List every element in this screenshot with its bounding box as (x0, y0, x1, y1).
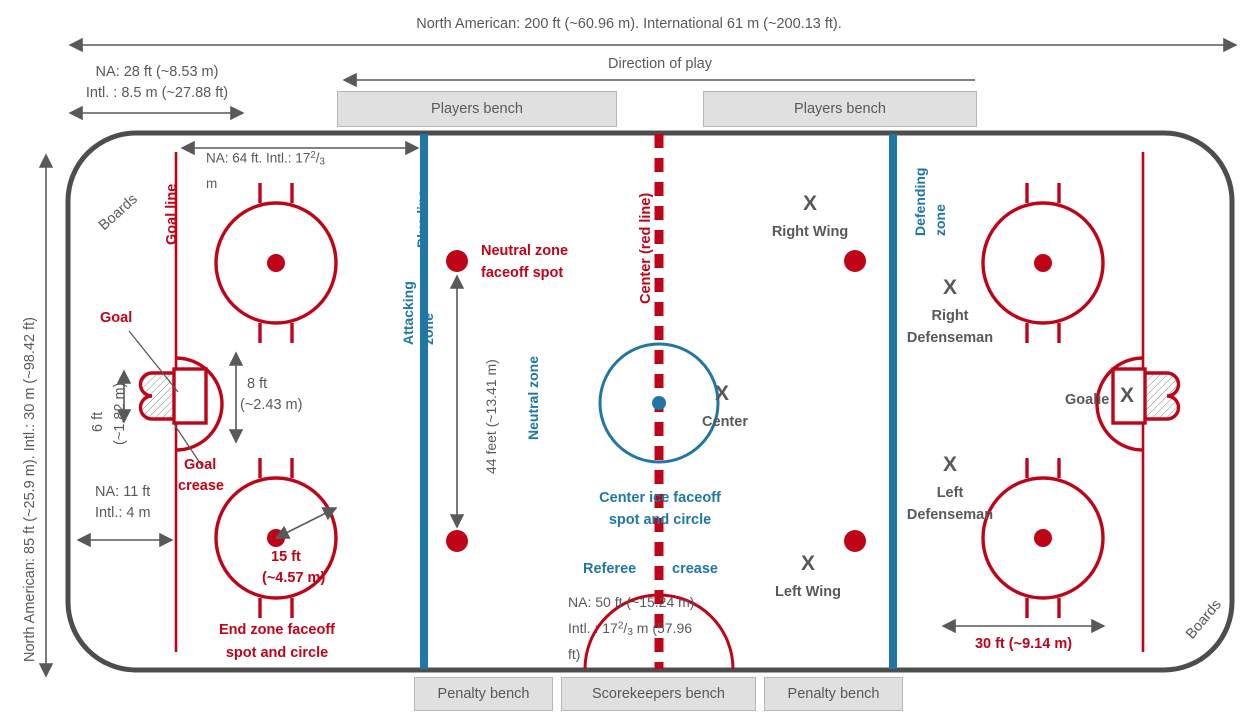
hash-spacing-label: 30 ft (~9.14 m) (943, 636, 1104, 653)
blue-line-separation-line1: NA: 50 ft (~15.24 m). (568, 594, 698, 611)
player-label-right-defenseman-line1: Right (888, 308, 1012, 325)
goal-label: Goal (100, 310, 132, 327)
corner-radius-label-line2: Intl. : 8.5 m (~27.88 ft) (32, 85, 282, 102)
overall-length-label: North American: 200 ft (~60.96 m). Inter… (329, 16, 929, 33)
goal-line-distance-label-line1: NA: 11 ft (95, 484, 150, 501)
blue-line-separation-line2: Intl. : 172/3 m (57.96 (568, 620, 692, 639)
referee-crease-label-left: Referee (583, 561, 636, 578)
penalty-bench-left[interactable]: Penalty bench (414, 677, 553, 711)
player-marker-right-defenseman: X (906, 276, 994, 301)
neutral-zone-label: Neutral zone (525, 356, 542, 440)
player-label-left-wing: Left Wing (748, 584, 868, 601)
overall-width-label: North American: 85 ft (~25.9 m). Intl.: … (22, 317, 39, 662)
attacking-zone-label-line1: Attacking (400, 281, 417, 345)
player-label-right-defenseman-line2: Defenseman (888, 330, 1012, 347)
blue-line-separation-line3: ft) (568, 646, 580, 663)
blue-line-separation-pre: Intl. : 17 (568, 620, 618, 636)
player-marker-center: X (692, 382, 752, 407)
blue-line-label: Blue line (414, 190, 431, 248)
goal-width-label-line1: 8 ft (247, 376, 267, 393)
neutral-faceoff-spot-top-right (844, 250, 866, 272)
player-marker-goalie: X (1120, 384, 1134, 409)
player-label-left-defenseman-line2: Defenseman (888, 507, 1012, 524)
blue-line-separation-numerator: 2 (618, 620, 624, 631)
corner-radius-label-line1: NA: 28 ft (~8.53 m) (32, 64, 282, 81)
end-zone-faceoff-label-line1: End zone faceoff (187, 622, 367, 639)
end-zone-faceoff-label-line2: spot and circle (187, 645, 367, 662)
attacking-zone-label-line2: zone (420, 313, 437, 345)
player-marker-right-wing: X (760, 192, 860, 217)
rink-diagram: Players bench Players bench Penalty benc… (0, 0, 1258, 725)
center-ice-faceoff-label-line2: spot and circle (572, 512, 748, 529)
end-zone-depth-unit: m (206, 176, 217, 192)
penalty-bench-right[interactable]: Penalty bench (764, 677, 903, 711)
goal-crease-label-line1: Goal (184, 457, 216, 474)
crease-depth-label-line1: 6 ft (90, 412, 107, 432)
players-bench-right[interactable]: Players bench (703, 91, 977, 127)
faceoff-radius-label-line2: (~4.57 m) (262, 570, 325, 587)
referee-crease-label-right: crease (672, 561, 718, 578)
neutral-faceoff-label-line2: faceoff spot (481, 265, 563, 282)
goal-crease-label-line2: crease (178, 478, 224, 495)
player-label-right-wing: Right Wing (750, 224, 870, 241)
end-zone-depth-text: NA: 64 ft. Intl.: 17 (206, 150, 310, 165)
player-label-goalie: Goalie (1065, 392, 1109, 409)
player-marker-left-wing: X (758, 552, 858, 577)
end-zone-depth-numerator: 2 (310, 150, 315, 161)
faceoff-radius-label-line1: 15 ft (271, 549, 301, 566)
scorekeepers-bench[interactable]: Scorekeepers bench (561, 677, 756, 711)
direction-of-play-label: Direction of play (510, 56, 810, 73)
neutral-faceoff-spot-bottom-right (844, 530, 866, 552)
center-red-line-label: Center (red line) (638, 193, 655, 304)
neutral-faceoff-spot-top-left (446, 250, 468, 272)
end-zone-depth-denominator: 3 (319, 156, 324, 167)
defending-zone-label-line2: zone (932, 204, 949, 236)
blue-line-separation-post: m (57.96 (633, 620, 692, 636)
rink-vector-layer (0, 0, 1258, 725)
end-zone-depth-label: NA: 64 ft. Intl.: 172/3 (206, 150, 325, 168)
goal-width-label-line2: (~2.43 m) (240, 397, 302, 414)
goal-net-left (141, 373, 177, 419)
goal-frame-left (174, 369, 206, 423)
goal-net-right (1143, 373, 1179, 419)
players-bench-left[interactable]: Players bench (337, 91, 617, 127)
neutral-zone-length-label: 44 feet (~13.41 m) (483, 359, 500, 474)
defending-zone-label-line1: Defending (912, 168, 929, 236)
goal-line-distance-label-line2: Intl.: 4 m (95, 505, 151, 522)
goal-line-label: Goal line (164, 184, 181, 245)
neutral-faceoff-spot-bottom-left (446, 530, 468, 552)
center-ice-faceoff-label-line1: Center ice faceoff (572, 490, 748, 507)
player-label-center: Center (685, 414, 765, 431)
player-marker-left-defenseman: X (906, 453, 994, 478)
center-ice-faceoff-spot (652, 396, 666, 410)
player-label-left-defenseman-line1: Left (888, 485, 1012, 502)
crease-depth-label-line2: (~1.82 m) (112, 383, 129, 445)
neutral-faceoff-label-line1: Neutral zone (481, 243, 568, 260)
